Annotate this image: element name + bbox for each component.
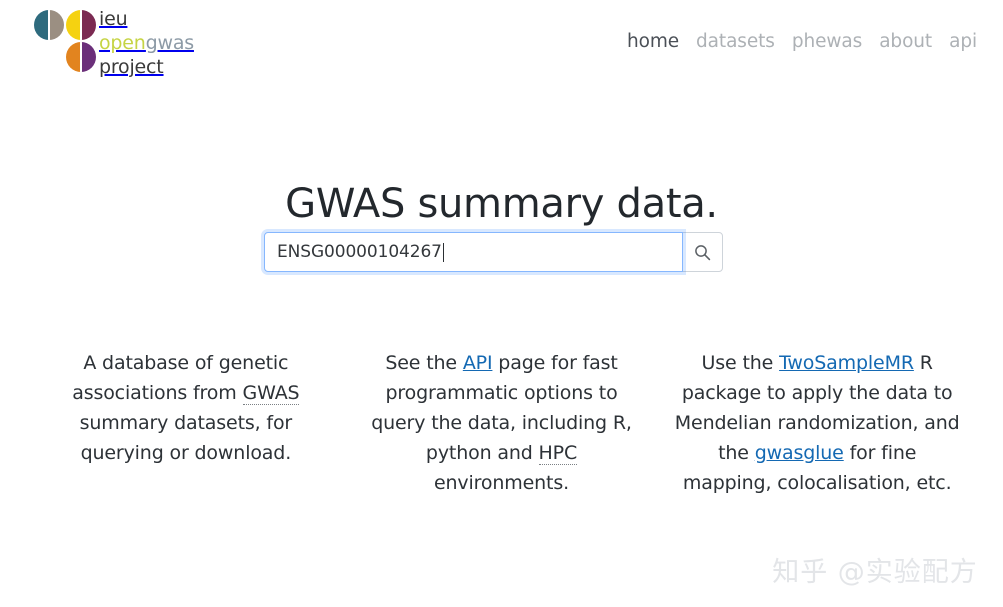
logo-dot-2-left-half (66, 10, 81, 40)
logo-mark-group (34, 6, 98, 76)
column-text-part: environments. (434, 472, 569, 494)
search-bar: ENSG00000104267 (264, 232, 723, 272)
logo-dot-1-left-half (34, 10, 49, 40)
search-input[interactable]: ENSG00000104267 (264, 232, 683, 272)
logo-dot-2-divider (80, 10, 82, 40)
logo-line-ieu: ieu (99, 7, 194, 31)
link-api[interactable]: API (463, 352, 493, 374)
link-gwasglue[interactable]: gwasglue (755, 442, 844, 464)
search-icon (694, 244, 711, 261)
column-text-part: See the (385, 352, 463, 374)
logo-dot-3-left-half (66, 42, 81, 72)
text-cursor (443, 243, 444, 262)
logo-word-open: open (99, 32, 146, 54)
column-text-part: summary datasets, for querying or downlo… (80, 412, 292, 464)
search-submit-button[interactable] (682, 232, 723, 272)
nav-item-phewas[interactable]: phewas (792, 31, 862, 52)
logo-dot-yellow-plum (66, 10, 96, 40)
column-twosamplemr: Use the TwoSampleMR R package to apply t… (659, 348, 975, 498)
logo-dot-3-right-half (81, 42, 96, 72)
nav-item-api[interactable]: api (949, 31, 977, 52)
logo-dot-1-right-half (49, 10, 64, 40)
logo-line-open-gwas: opengwas (99, 31, 194, 55)
logo-dot-3-divider (80, 42, 82, 72)
column-text-part: Use the (702, 352, 780, 374)
logo-dot-teal-grey (34, 10, 64, 40)
main-navigation: home datasets phewas about api (627, 31, 977, 52)
page-title: GWAS summary data. (0, 179, 1003, 229)
logo-word-gwas: gwas (146, 32, 194, 54)
page-header: ieu opengwas project home datasets phewa… (0, 0, 1003, 86)
logo-dot-orange-purple (66, 42, 96, 72)
abbr-gwas[interactable]: GWAS (243, 382, 300, 405)
link-twosamplemr[interactable]: TwoSampleMR (779, 352, 914, 374)
abbr-hpc[interactable]: HPC (539, 442, 578, 465)
logo-dot-1-divider (48, 10, 50, 40)
column-api: See the API page for fast programmatic o… (344, 348, 660, 498)
watermark: 知乎 @实验配方 (770, 549, 980, 589)
logo-line-project: project (99, 55, 194, 79)
logo-dot-2-right-half (81, 10, 96, 40)
nav-item-home[interactable]: home (627, 31, 679, 52)
logo-word-project: project (99, 56, 164, 78)
nav-item-datasets[interactable]: datasets (696, 31, 775, 52)
feature-columns: A database of genetic associations from … (28, 348, 975, 498)
search-input-value: ENSG00000104267 (277, 242, 442, 262)
logo-wordmark: ieu opengwas project (99, 7, 194, 79)
brand-logo-link[interactable]: ieu opengwas project (34, 6, 194, 79)
column-database: A database of genetic associations from … (28, 348, 344, 468)
nav-item-about[interactable]: about (879, 31, 932, 52)
logo-word-ieu: ieu (99, 8, 127, 30)
